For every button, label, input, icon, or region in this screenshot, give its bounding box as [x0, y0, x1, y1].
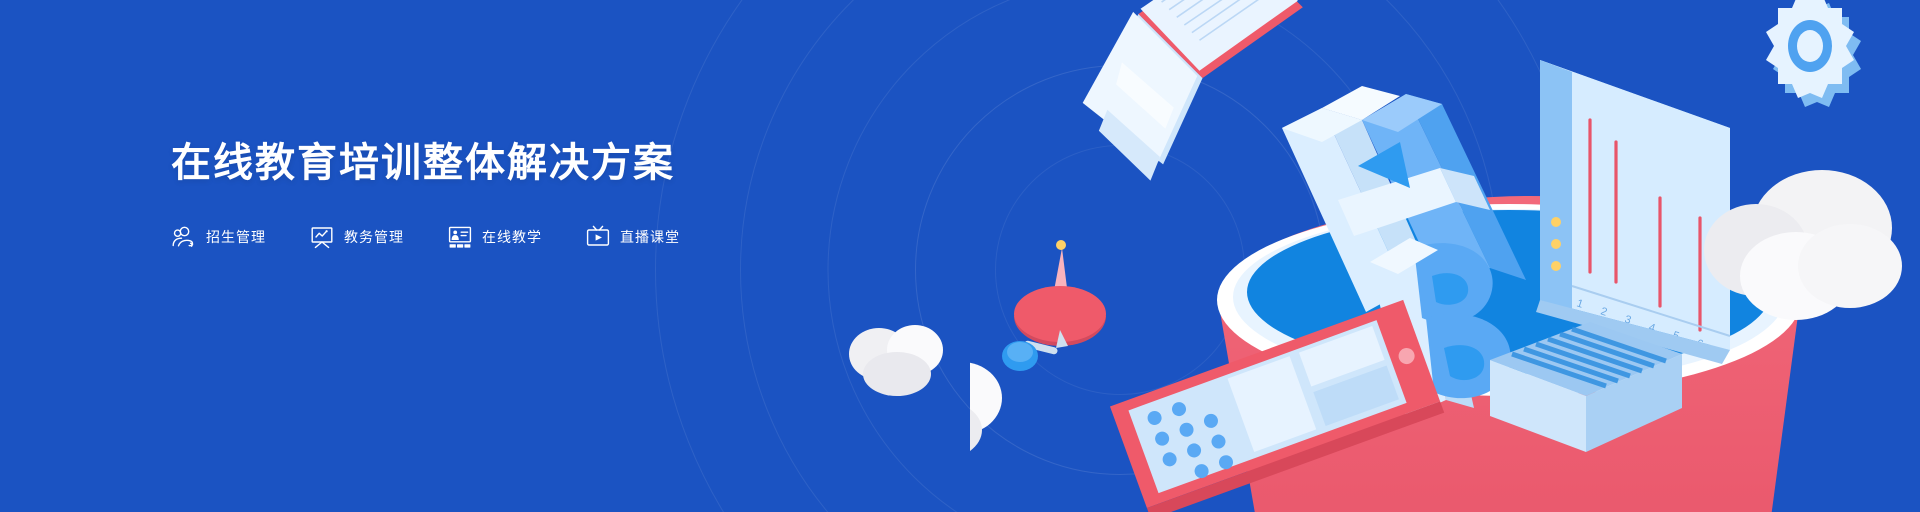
feature-label-academic-affairs: 教务管理: [344, 227, 404, 247]
svg-text:2: 2: [1599, 305, 1609, 318]
banner-content: 在线教育培训整体解决方案 招生管理: [171, 140, 931, 250]
cloud-large: [1704, 170, 1902, 320]
svg-text:1: 1: [1575, 297, 1585, 310]
gear-icon: [1766, 0, 1861, 107]
svg-text:4: 4: [1647, 321, 1657, 334]
tablet-device: [1110, 300, 1444, 512]
feature-label-live-classroom: 直播课堂: [620, 227, 680, 247]
svg-text:6: 6: [1695, 337, 1705, 350]
letter-b-3d: [1370, 238, 1511, 418]
feature-item-academic-affairs[interactable]: 教务管理: [309, 224, 404, 250]
monitor-bar-chart: 1 2 3 4 5 6: [1536, 60, 1730, 364]
users-icon: [171, 224, 197, 250]
ring-3: [828, 0, 1413, 512]
education-illustration: 1 2 3 4 5 6: [970, 0, 1920, 512]
cloud-small-left: [845, 318, 955, 398]
spinning-top: [1002, 240, 1106, 371]
page-title: 在线教育培训整体解决方案: [171, 140, 931, 186]
concentric-rings-decoration: [640, 0, 1600, 512]
red-cup: [1217, 196, 1801, 512]
feature-label-online-teaching: 在线教学: [482, 227, 542, 247]
ring-2: [740, 0, 1500, 512]
feature-label-enrollment: 招生管理: [206, 227, 266, 247]
feature-item-enrollment[interactable]: 招生管理: [171, 224, 266, 250]
classroom-teaching-icon: [447, 224, 473, 250]
cloud-small: [970, 362, 1002, 460]
svg-text:3: 3: [1623, 313, 1633, 326]
ring-outer: [655, 0, 1585, 512]
hero-banner: 1 2 3 4 5 6: [0, 0, 1920, 512]
feature-item-live-classroom[interactable]: 直播课堂: [585, 224, 680, 250]
letter-a-3d: [1282, 86, 1526, 312]
eraser-block: [1490, 322, 1682, 452]
tv-play-icon: [585, 224, 611, 250]
feature-list: 招生管理 教务管理: [171, 224, 931, 250]
open-book: [1048, 0, 1342, 193]
feature-item-online-teaching[interactable]: 在线教学: [447, 224, 542, 250]
ring-inner: [995, 145, 1245, 395]
presentation-chart-icon: [309, 224, 335, 250]
svg-text:5: 5: [1671, 329, 1681, 342]
ring-4: [915, 65, 1325, 475]
